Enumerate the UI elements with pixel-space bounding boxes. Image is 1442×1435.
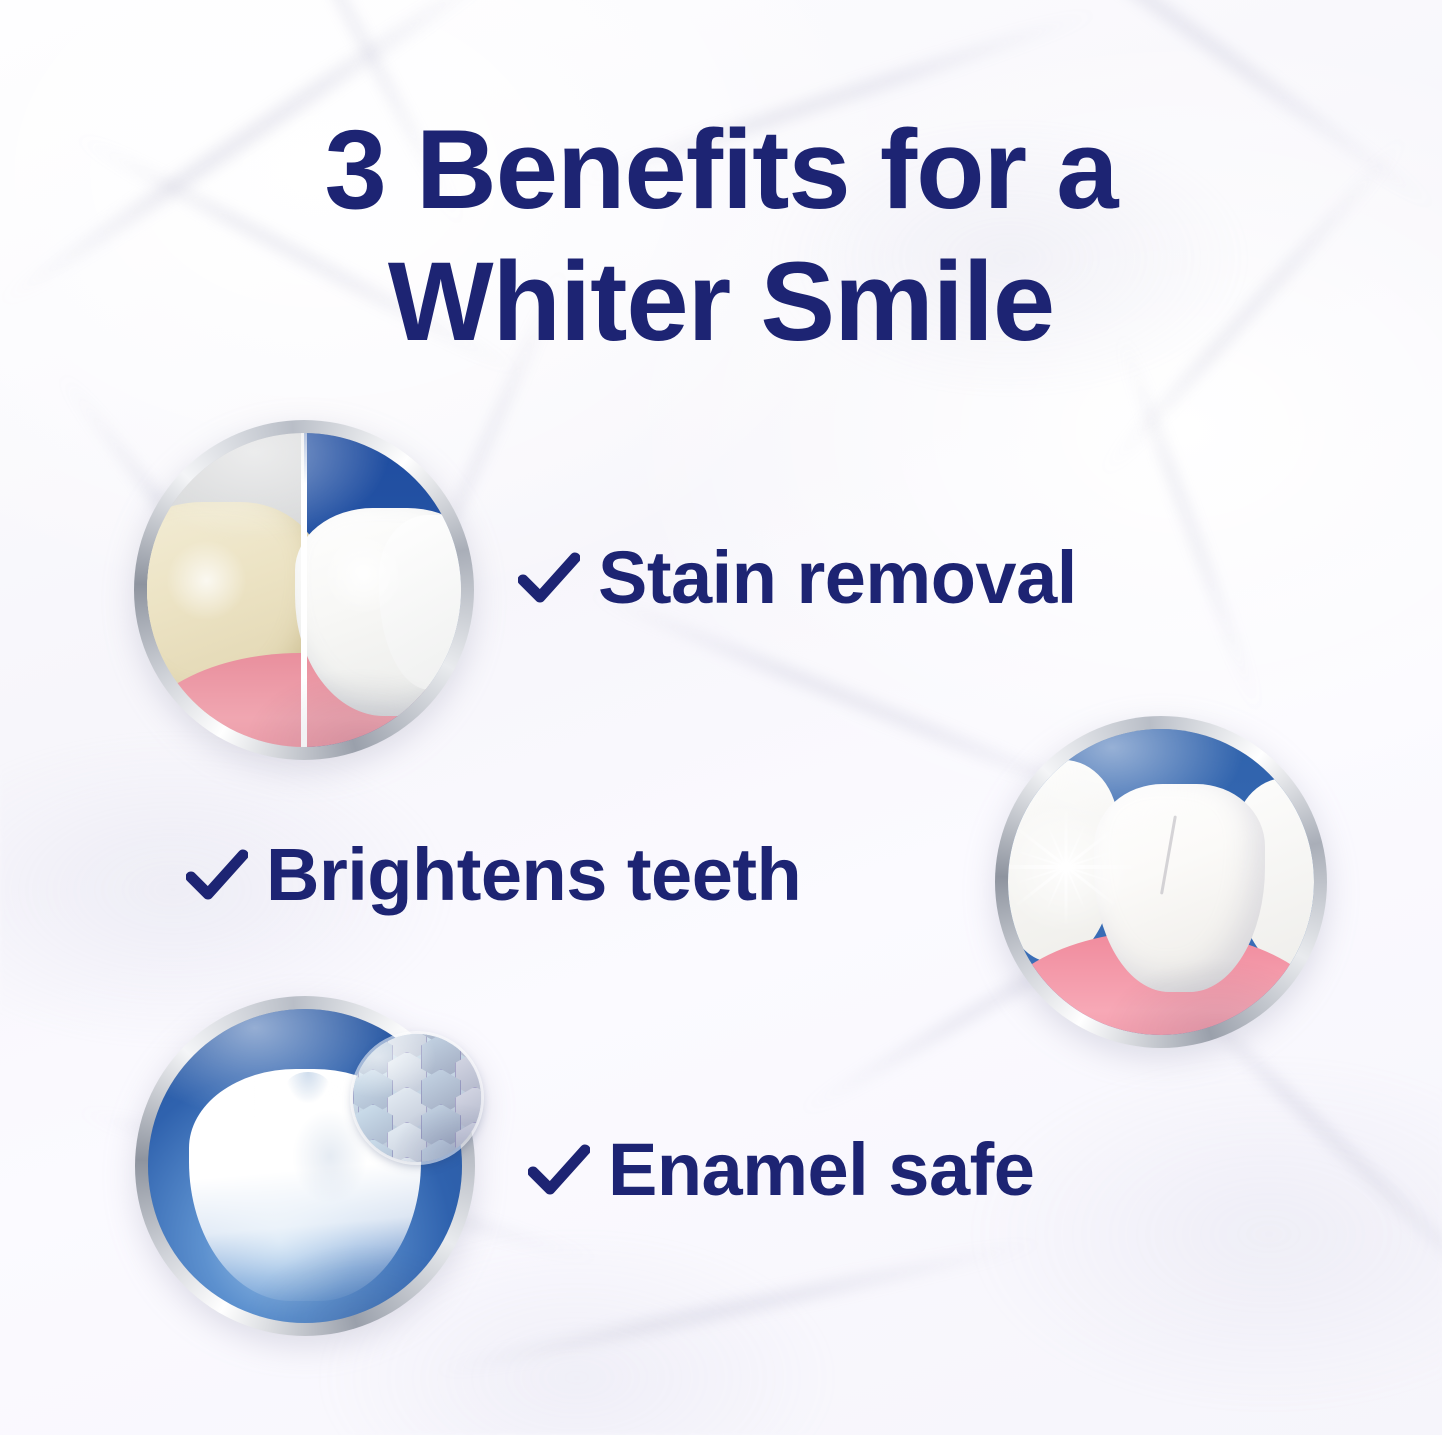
medallion-disc (147, 433, 461, 747)
sparkle-icon (1008, 792, 1141, 942)
benefit-item-enamel-safe: Enamel safe (528, 1133, 1034, 1207)
benefit-item-stain-removal: Stain removal (518, 541, 1077, 615)
benefit-label: Brightens teeth (266, 838, 801, 912)
page-title: 3 Benefits for a Whiter Smile (0, 104, 1442, 368)
before-after-divider (301, 433, 307, 747)
check-icon (528, 1141, 590, 1199)
tooth-highlight (323, 533, 405, 615)
check-icon (518, 549, 580, 607)
benefit-image-enamel-safe (135, 996, 475, 1336)
tooth-notch (286, 1072, 330, 1103)
benefit-image-brightens-teeth (995, 716, 1327, 1048)
check-icon (186, 846, 248, 904)
benefit-label: Stain removal (598, 541, 1077, 615)
benefit-item-brightens-teeth: Brightens teeth (186, 838, 801, 912)
medallion-disc (1008, 729, 1314, 1035)
benefit-label: Enamel safe (608, 1133, 1034, 1207)
benefit-image-stain-removal (134, 420, 474, 760)
infographic-poster: 3 Benefits for a Whiter Smile (0, 0, 1442, 1435)
enamel-magnifier-inset (353, 1034, 481, 1162)
